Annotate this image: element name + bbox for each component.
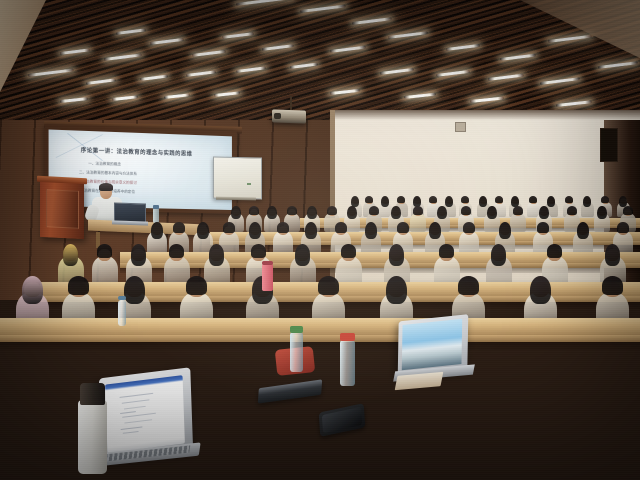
water-bottle-green-cap-cap [290, 326, 303, 333]
water-bottle-clear-cap [340, 333, 355, 341]
document-text-line-6 [121, 426, 143, 430]
document-text-line-4 [122, 413, 156, 419]
document-text-line-2 [124, 406, 146, 410]
thermos-flask-cap [80, 383, 105, 405]
water-bottle-green-cap [290, 332, 303, 372]
document-text-line-3 [120, 411, 136, 414]
water-bottle-clear [340, 340, 355, 386]
foreground-laptop-screen [105, 375, 185, 453]
document-text-line-0 [119, 393, 153, 399]
thermos-flask [78, 400, 107, 474]
water-bottle-small-cap [118, 296, 126, 300]
lecture-hall-photo: 序论第一讲：法治教育的理念与实践的思维 一、法治教育的概念二、法治教育的基本内容… [0, 0, 640, 480]
water-bottle-small [118, 300, 126, 326]
document-text-line-5 [124, 419, 152, 424]
document-text-line-1 [122, 399, 150, 404]
document-text-line-7 [123, 431, 139, 434]
